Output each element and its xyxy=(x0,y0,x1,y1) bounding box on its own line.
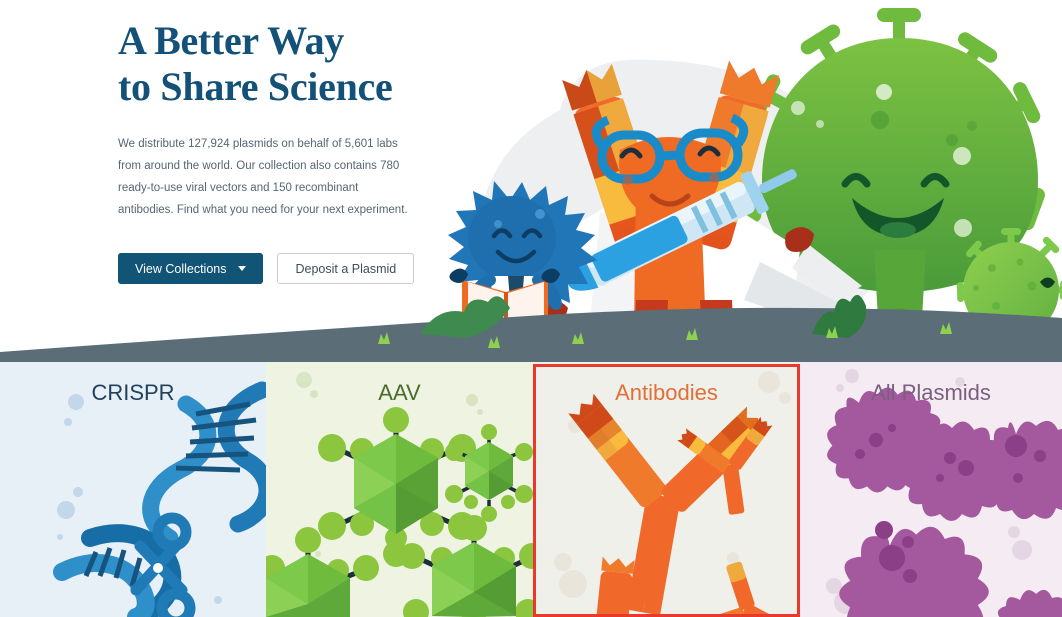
plasmid-bacteria-icon xyxy=(800,362,1062,617)
deposit-plasmid-button[interactable]: Deposit a Plasmid xyxy=(277,253,414,284)
aav-capsid-icon xyxy=(266,362,533,617)
capsid-bottom-left xyxy=(266,527,379,617)
collection-card-antibodies[interactable]: Antibodies xyxy=(533,362,800,617)
page-root: A Better Way to Share Science We distrib… xyxy=(0,0,1062,617)
antibody-molecules-icon xyxy=(533,362,800,617)
antibody-bottom xyxy=(591,557,635,617)
view-collections-button[interactable]: View Collections xyxy=(118,253,263,284)
dna-helix-scissors-icon xyxy=(0,362,266,617)
page-title: A Better Way to Share Science xyxy=(118,18,418,111)
antibody-bottom-right xyxy=(691,556,800,617)
chevron-down-icon xyxy=(238,266,246,271)
collection-card-aav[interactable]: AAV xyxy=(266,362,533,617)
hero-description: We distribute 127,924 plasmids on behalf… xyxy=(118,133,408,221)
capsid-bottom-right xyxy=(399,515,533,617)
view-collections-label: View Collections xyxy=(135,262,226,276)
hero-copy: A Better Way to Share Science We distrib… xyxy=(118,18,418,284)
collection-cards: CRISPR xyxy=(0,362,1062,617)
collection-card-crispr[interactable]: CRISPR xyxy=(0,362,266,617)
collection-card-all-plasmids[interactable]: All Plasmids xyxy=(800,362,1062,617)
hero-button-group: View Collections Deposit a Plasmid xyxy=(118,253,418,284)
hero-section: A Better Way to Share Science We distrib… xyxy=(0,0,1062,362)
